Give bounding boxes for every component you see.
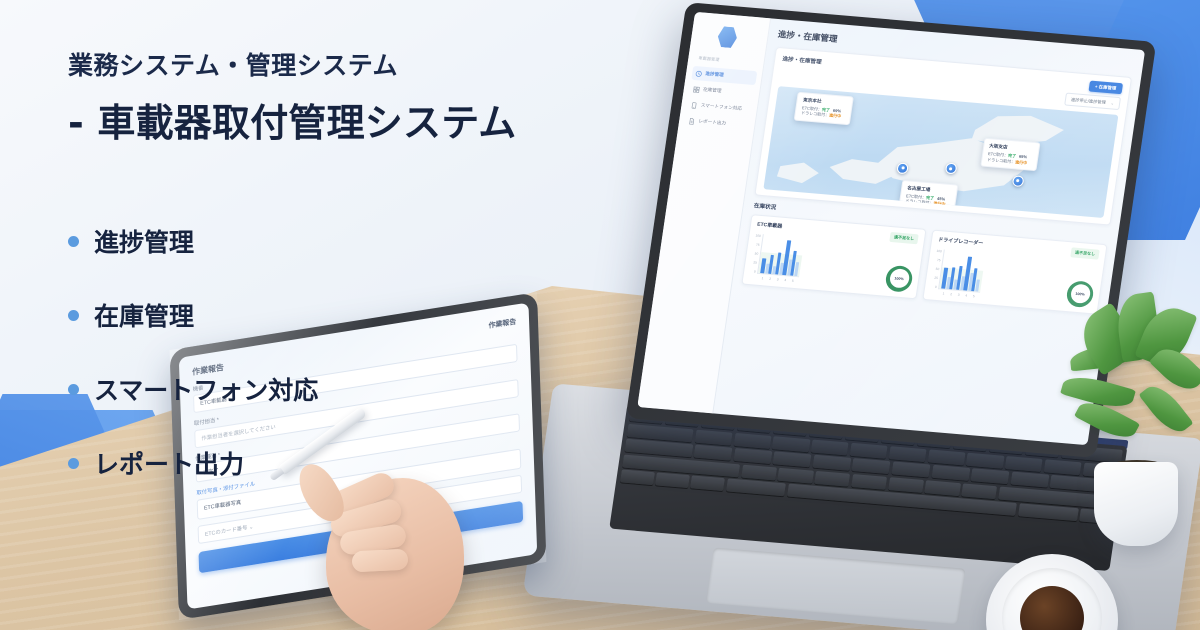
x-tick: 4: [965, 293, 967, 297]
feature-list: 進捗管理 在庫管理 スマートフォン対応 レポート出力: [68, 216, 318, 512]
key[interactable]: [773, 452, 812, 468]
map-tooltip-osaka: 大阪支店 ETC取付：完了65% ドラレコ取付：進行中: [980, 138, 1040, 171]
sidebar-item-label: レポート出力: [698, 118, 726, 126]
chart-title: ETC車載器: [757, 221, 783, 230]
bars-container: [757, 234, 805, 277]
x-tick: 1: [761, 276, 763, 280]
sidebar-caption: 車載器管理: [698, 55, 759, 66]
feature-label: 進捗管理: [94, 223, 194, 259]
hand-holding-stylus: [300, 430, 480, 630]
tooltip-etc-status: 完了: [1008, 153, 1017, 159]
grid-icon: [692, 85, 700, 93]
key-control[interactable]: [655, 473, 690, 489]
key[interactable]: [733, 448, 772, 464]
key[interactable]: [850, 442, 888, 458]
key[interactable]: [1010, 472, 1049, 488]
y-tick: 75: [754, 242, 760, 246]
map-tooltip-nagoya: 名古屋工場 ETC取付：完了45% ドラレコ取付：進行中: [898, 180, 958, 213]
list-item: スマートフォン対応: [68, 364, 318, 414]
tooltip-dvr-label: ドラレコ取付：: [905, 199, 934, 206]
chart-body: 100 75 50 25 0: [749, 234, 917, 293]
y-tick: 25: [932, 276, 938, 280]
key[interactable]: [695, 429, 733, 445]
feature-label: レポート出力: [94, 445, 244, 481]
map-tooltip-tokyo: 東京本社 ETC取付：完了69% ドラレコ取付：進行中: [794, 92, 854, 125]
key[interactable]: [741, 464, 777, 480]
chart-card-etc: ETC車載器 過不足なし 100 75 50 25: [741, 214, 926, 299]
sidebar-item-report[interactable]: レポート出力: [684, 113, 750, 132]
y-tick: 100: [755, 234, 761, 238]
key[interactable]: [971, 468, 1010, 484]
sidebar-item-label: 在庫管理: [703, 87, 722, 95]
sidebar-item-label: 進捗管理: [705, 71, 724, 79]
app-logo-icon: [716, 26, 738, 48]
list-item: 在庫管理: [68, 290, 318, 340]
tooltip-dvr-label: ドラレコ取付：: [801, 111, 830, 118]
bullet-dot-icon: [68, 384, 79, 395]
bullet-dot-icon: [68, 458, 79, 469]
map-pin-osaka[interactable]: [1012, 175, 1025, 187]
bullet-dot-icon: [68, 236, 79, 247]
donut-gauge-etc: 100%: [884, 264, 914, 292]
status-badge: 過不足なし: [889, 232, 918, 244]
key[interactable]: [961, 483, 997, 499]
card-number-value: ETCのカード番号 ⌄: [205, 522, 254, 538]
progress-card: 進捗・在庫管理 + 在庫管理 進捗停止/進捗管理 ⌄: [754, 47, 1132, 226]
map-island-kyushu: [771, 159, 822, 186]
x-tick: 4: [784, 278, 786, 282]
trackpad[interactable]: [706, 547, 966, 624]
hero-copy: 業務システム・管理システム - 車載器取付管理システム: [68, 46, 588, 147]
y-tick: 50: [753, 251, 759, 255]
key[interactable]: [811, 439, 849, 455]
key[interactable]: [852, 458, 891, 474]
progress-card-title: 進捗・在庫管理: [782, 54, 822, 65]
key[interactable]: [892, 462, 931, 478]
bar-chart-etc: 100 75 50 25 0: [749, 234, 887, 290]
y-tick: 100: [936, 249, 942, 253]
key[interactable]: [888, 477, 924, 493]
x-tick: 3: [777, 277, 779, 281]
coffee-cup: [986, 554, 1118, 630]
list-item: レポート出力: [68, 438, 318, 488]
potted-plant: [1060, 292, 1200, 552]
finger: [351, 549, 408, 573]
key[interactable]: [1005, 456, 1043, 472]
tooltip-dvr-status: 進行中: [829, 113, 842, 119]
key[interactable]: [851, 474, 887, 490]
donut-value: 100%: [894, 276, 904, 281]
list-item: 進捗管理: [68, 216, 318, 266]
add-inventory-button[interactable]: + 在庫管理: [1088, 81, 1123, 95]
key[interactable]: [889, 446, 927, 462]
x-tick: 2: [769, 276, 771, 280]
japan-map[interactable]: 東京本社 ETC取付：完了69% ドラレコ取付：進行中 大阪支店: [763, 86, 1118, 218]
plant-pot: [1094, 462, 1178, 546]
key-command[interactable]: [726, 479, 787, 497]
key-option[interactable]: [690, 476, 725, 492]
key[interactable]: [927, 449, 965, 465]
key[interactable]: [966, 452, 1004, 468]
key[interactable]: [778, 468, 814, 484]
progress-filter-select[interactable]: 進捗停止/進捗管理 ⌄: [1064, 93, 1121, 111]
key[interactable]: [814, 471, 850, 487]
progress-card-actions: + 在庫管理 進捗停止/進捗管理 ⌄: [1064, 79, 1123, 110]
hero-eyebrow: 業務システム・管理システム: [68, 46, 588, 82]
phone-icon: [690, 101, 698, 109]
chart-title: ドライブレコーダー: [938, 236, 984, 247]
x-tick: 5: [792, 278, 794, 282]
x-tick: 3: [958, 292, 960, 296]
key[interactable]: [931, 465, 970, 481]
y-tick: 0: [750, 269, 756, 273]
document-icon: [688, 117, 696, 125]
y-tick: 50: [934, 267, 940, 271]
progress-filter-value: 進捗停止/進捗管理: [1071, 96, 1107, 105]
feature-label: 在庫管理: [94, 297, 194, 333]
bars-container: [938, 250, 986, 293]
key[interactable]: [925, 480, 961, 496]
key[interactable]: [812, 455, 851, 471]
x-tick: 5: [973, 294, 975, 298]
tablet-form-chip: 作業報告: [488, 316, 516, 330]
tooltip-dvr-status: 進行中: [933, 201, 946, 207]
tooltip-dvr-status: 進行中: [1015, 159, 1028, 165]
x-tick: 1: [942, 291, 944, 295]
x-tick: 2: [950, 292, 952, 296]
page-title: - 車載器取付管理システム: [68, 92, 588, 147]
y-tick: 25: [751, 260, 757, 264]
clock-icon: [695, 70, 703, 78]
bullet-dot-icon: [68, 310, 79, 321]
y-tick: 75: [935, 258, 941, 262]
status-badge: 過不足なし: [1070, 247, 1099, 259]
key[interactable]: [772, 436, 810, 452]
y-tick: 0: [931, 285, 937, 289]
bar-chart-dvr: 100 75 50 25 0: [930, 249, 1068, 305]
key[interactable]: [694, 445, 733, 461]
slide-background: 業務システム・管理システム - 車載器取付管理システム 進捗管理 在庫管理 スマ…: [0, 0, 1200, 630]
tooltip-dvr-label: ドラレコ取付：: [987, 157, 1016, 164]
chevron-down-icon: ⌄: [1110, 100, 1114, 105]
key-fn[interactable]: [620, 470, 655, 486]
feature-label: スマートフォン対応: [94, 371, 318, 407]
tooltip-etc-percent: 65%: [1019, 154, 1028, 160]
sidebar-item-label: スマートフォン対応: [700, 103, 742, 112]
key[interactable]: [733, 433, 771, 449]
